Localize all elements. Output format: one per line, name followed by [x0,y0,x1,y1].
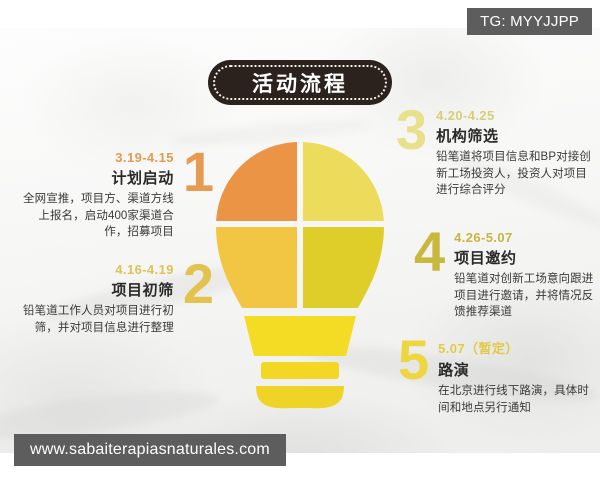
page-title: 活动流程 [252,68,348,98]
step-item-2: 4.16-4.19 项目初筛 铅笔道工作人员对项目进行初筛，并对项目信息进行整理… [22,262,214,336]
step-content: 3.19-4.15 计划启动 全网宣推，项目方、渠道方线上报名，启动400家渠道… [22,150,174,241]
bulb-quadrant-bottom-right [303,227,388,312]
step-date: 5.07（暂定） [438,338,519,357]
step-date: 4.16-4.19 [115,262,174,277]
step-item-4: 4 4.26-5.07 项目邀约 铅笔道对创新工场意向跟进项目进行邀请，并将情况… [414,230,596,321]
step-title: 路演 [438,359,469,380]
bulb-quadrant-bottom-left [212,227,297,312]
step-number: 5 [398,334,429,386]
step-description: 铅笔道将项目信息和BP对接创新工场投资人，投资人对项目进行综合评分 [436,149,592,199]
step-content: 4.20-4.25 机构筛选 铅笔道将项目信息和BP对接创新工场投资人，投资人对… [436,108,592,199]
step-title: 项目邀约 [454,247,516,268]
step-content: 4.16-4.19 项目初筛 铅笔道工作人员对项目进行初筛，并对项目信息进行整理 [22,262,174,336]
page-title-badge: 活动流程 [208,60,392,105]
step-number: 1 [183,146,214,198]
step-date: 4.20-4.25 [436,108,495,123]
step-description: 铅笔道工作人员对项目进行初筛，并对项目信息进行整理 [22,303,174,336]
step-title: 机构筛选 [436,125,498,146]
bulb-quadrant-top-left [212,140,297,221]
step-number: 3 [396,104,427,156]
step-content: 5.07（暂定） 路演 在北京进行线下路演，具体时间和地点另行通知 [438,338,594,416]
step-date: 4.26-5.07 [454,230,513,245]
bulb-contact-bar [261,362,339,379]
step-date: 3.19-4.15 [115,150,174,165]
step-description: 铅笔道对创新工场意向跟进项目进行邀请，并将情况反馈推荐渠道 [454,271,596,321]
step-content: 4.26-5.07 项目邀约 铅笔道对创新工场意向跟进项目进行邀请，并将情况反馈… [454,230,596,321]
bulb-contact-cap [256,386,344,408]
step-description: 全网宣推，项目方、渠道方线上报名，启动400家渠道合作，招募项目 [22,191,174,241]
step-item-1: 3.19-4.15 计划启动 全网宣推，项目方、渠道方线上报名，启动400家渠道… [22,150,214,241]
lightbulb-icon [212,140,388,410]
bulb-quadrant-top-right [303,140,388,221]
step-number: 2 [183,258,214,310]
step-title: 项目初筛 [111,279,173,300]
telegram-watermark: TG: MYYJJPP [467,8,592,35]
infographic-canvas: 活动流程 3.19-4.15 计划启动 全网宣推，项目方、渠道方线上报名，启动4… [0,0,600,480]
bulb-base [244,316,356,356]
step-item-3: 3 4.20-4.25 机构筛选 铅笔道将项目信息和BP对接创新工场投资人，投资… [396,108,592,199]
step-item-5: 5 5.07（暂定） 路演 在北京进行线下路演，具体时间和地点另行通知 [398,338,594,416]
step-description: 在北京进行线下路演，具体时间和地点另行通知 [438,383,594,416]
step-title: 计划启动 [111,167,173,188]
step-number: 4 [414,226,445,278]
url-watermark: www.sabaiterapiasnaturales.com [14,434,286,466]
